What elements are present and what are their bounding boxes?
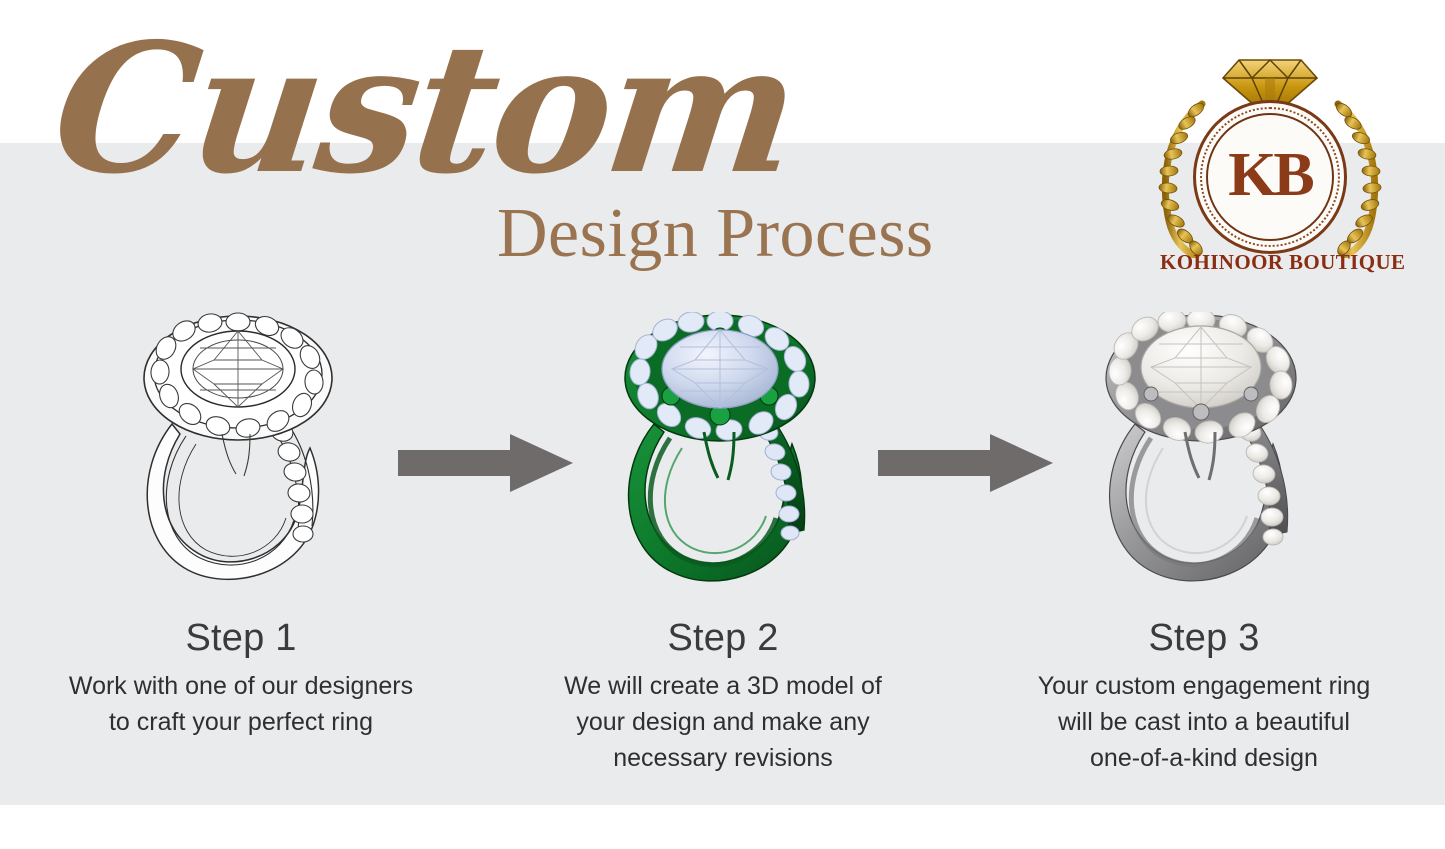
step-2-desc-line: necessary revisions xyxy=(504,740,942,776)
step-card-1: Step 1 Work with one of our designers to… xyxy=(0,300,482,805)
ring-sketch-line-art-icon xyxy=(126,312,356,588)
step-1-artwork xyxy=(0,300,482,600)
step-3-artwork xyxy=(963,300,1445,600)
brand-name-text: KOHINOOR BOUTIQUE xyxy=(1160,250,1380,275)
logo-monogram-text: KB xyxy=(1193,100,1347,254)
ring-finished-photo-icon xyxy=(1089,312,1319,588)
step-3-title: Step 3 xyxy=(963,616,1445,660)
step-3-description: Your custom engagement ring will be cast… xyxy=(963,668,1445,776)
custom-design-process-banner: Custom Design Process xyxy=(0,0,1445,849)
steps-row: Step 1 Work with one of our designers to… xyxy=(0,300,1445,805)
step-3-desc-line: will be cast into a beautiful xyxy=(985,704,1423,740)
brand-logo[interactable]: KB KOHINOOR BOUTIQUE xyxy=(1160,58,1380,280)
step-1-title: Step 1 xyxy=(0,616,482,660)
step-3-desc-line: Your custom engagement ring xyxy=(985,668,1423,704)
step-2-description: We will create a 3D model of your design… xyxy=(482,668,964,776)
step-3-desc-line: one-of-a-kind design xyxy=(985,740,1423,776)
logo-medallion: KB xyxy=(1193,100,1347,254)
step-1-desc-line: to craft your perfect ring xyxy=(22,704,460,740)
step-1-desc-line: Work with one of our designers xyxy=(22,668,460,704)
step-2-desc-line: your design and make any xyxy=(504,704,942,740)
step-2-title: Step 2 xyxy=(482,616,964,660)
ring-3d-cad-model-icon xyxy=(608,312,838,588)
step-2-desc-line: We will create a 3D model of xyxy=(504,668,942,704)
step-1-description: Work with one of our designers to craft … xyxy=(0,668,482,740)
step-card-2: Step 2 We will create a 3D model of your… xyxy=(482,300,964,805)
step-card-3: Step 3 Your custom engagement ring will … xyxy=(963,300,1445,805)
bottom-white-band xyxy=(0,805,1445,849)
headline-subtitle: Design Process xyxy=(497,197,934,271)
step-2-artwork xyxy=(482,300,964,600)
